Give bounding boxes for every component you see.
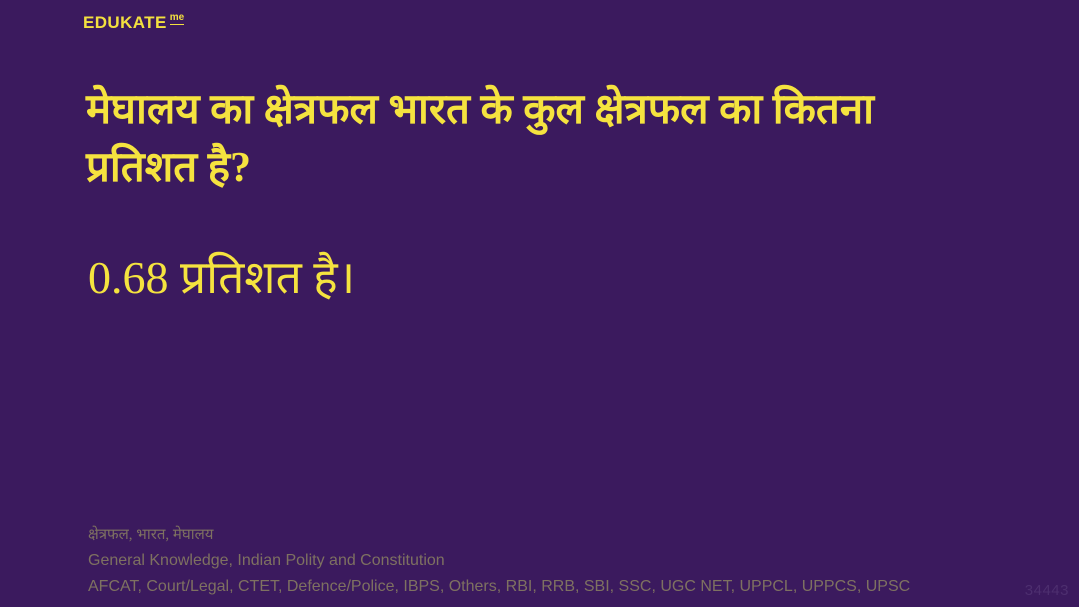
answer-text: 0.68 प्रतिशत है। [88, 249, 938, 307]
brand-suffix: me [170, 13, 184, 25]
corner-watermark: 34443 [1025, 582, 1069, 599]
brand-logo[interactable]: EDUKATE me [83, 14, 184, 31]
slide-canvas: EDUKATE me मेघालय का क्षेत्रफल भारत के क… [0, 0, 1079, 607]
brand-name: EDUKATE [83, 14, 167, 31]
footer-tags: क्षेत्रफल, भारत, मेघालय [88, 522, 988, 548]
footer-meta: क्षेत्रफल, भारत, मेघालय General Knowledg… [88, 522, 988, 600]
footer-exams: AFCAT, Court/Legal, CTET, Defence/Police… [88, 574, 988, 600]
footer-subject: General Knowledge, Indian Polity and Con… [88, 548, 988, 574]
question-text: मेघालय का क्षेत्रफल भारत के कुल क्षेत्रफ… [86, 82, 936, 198]
